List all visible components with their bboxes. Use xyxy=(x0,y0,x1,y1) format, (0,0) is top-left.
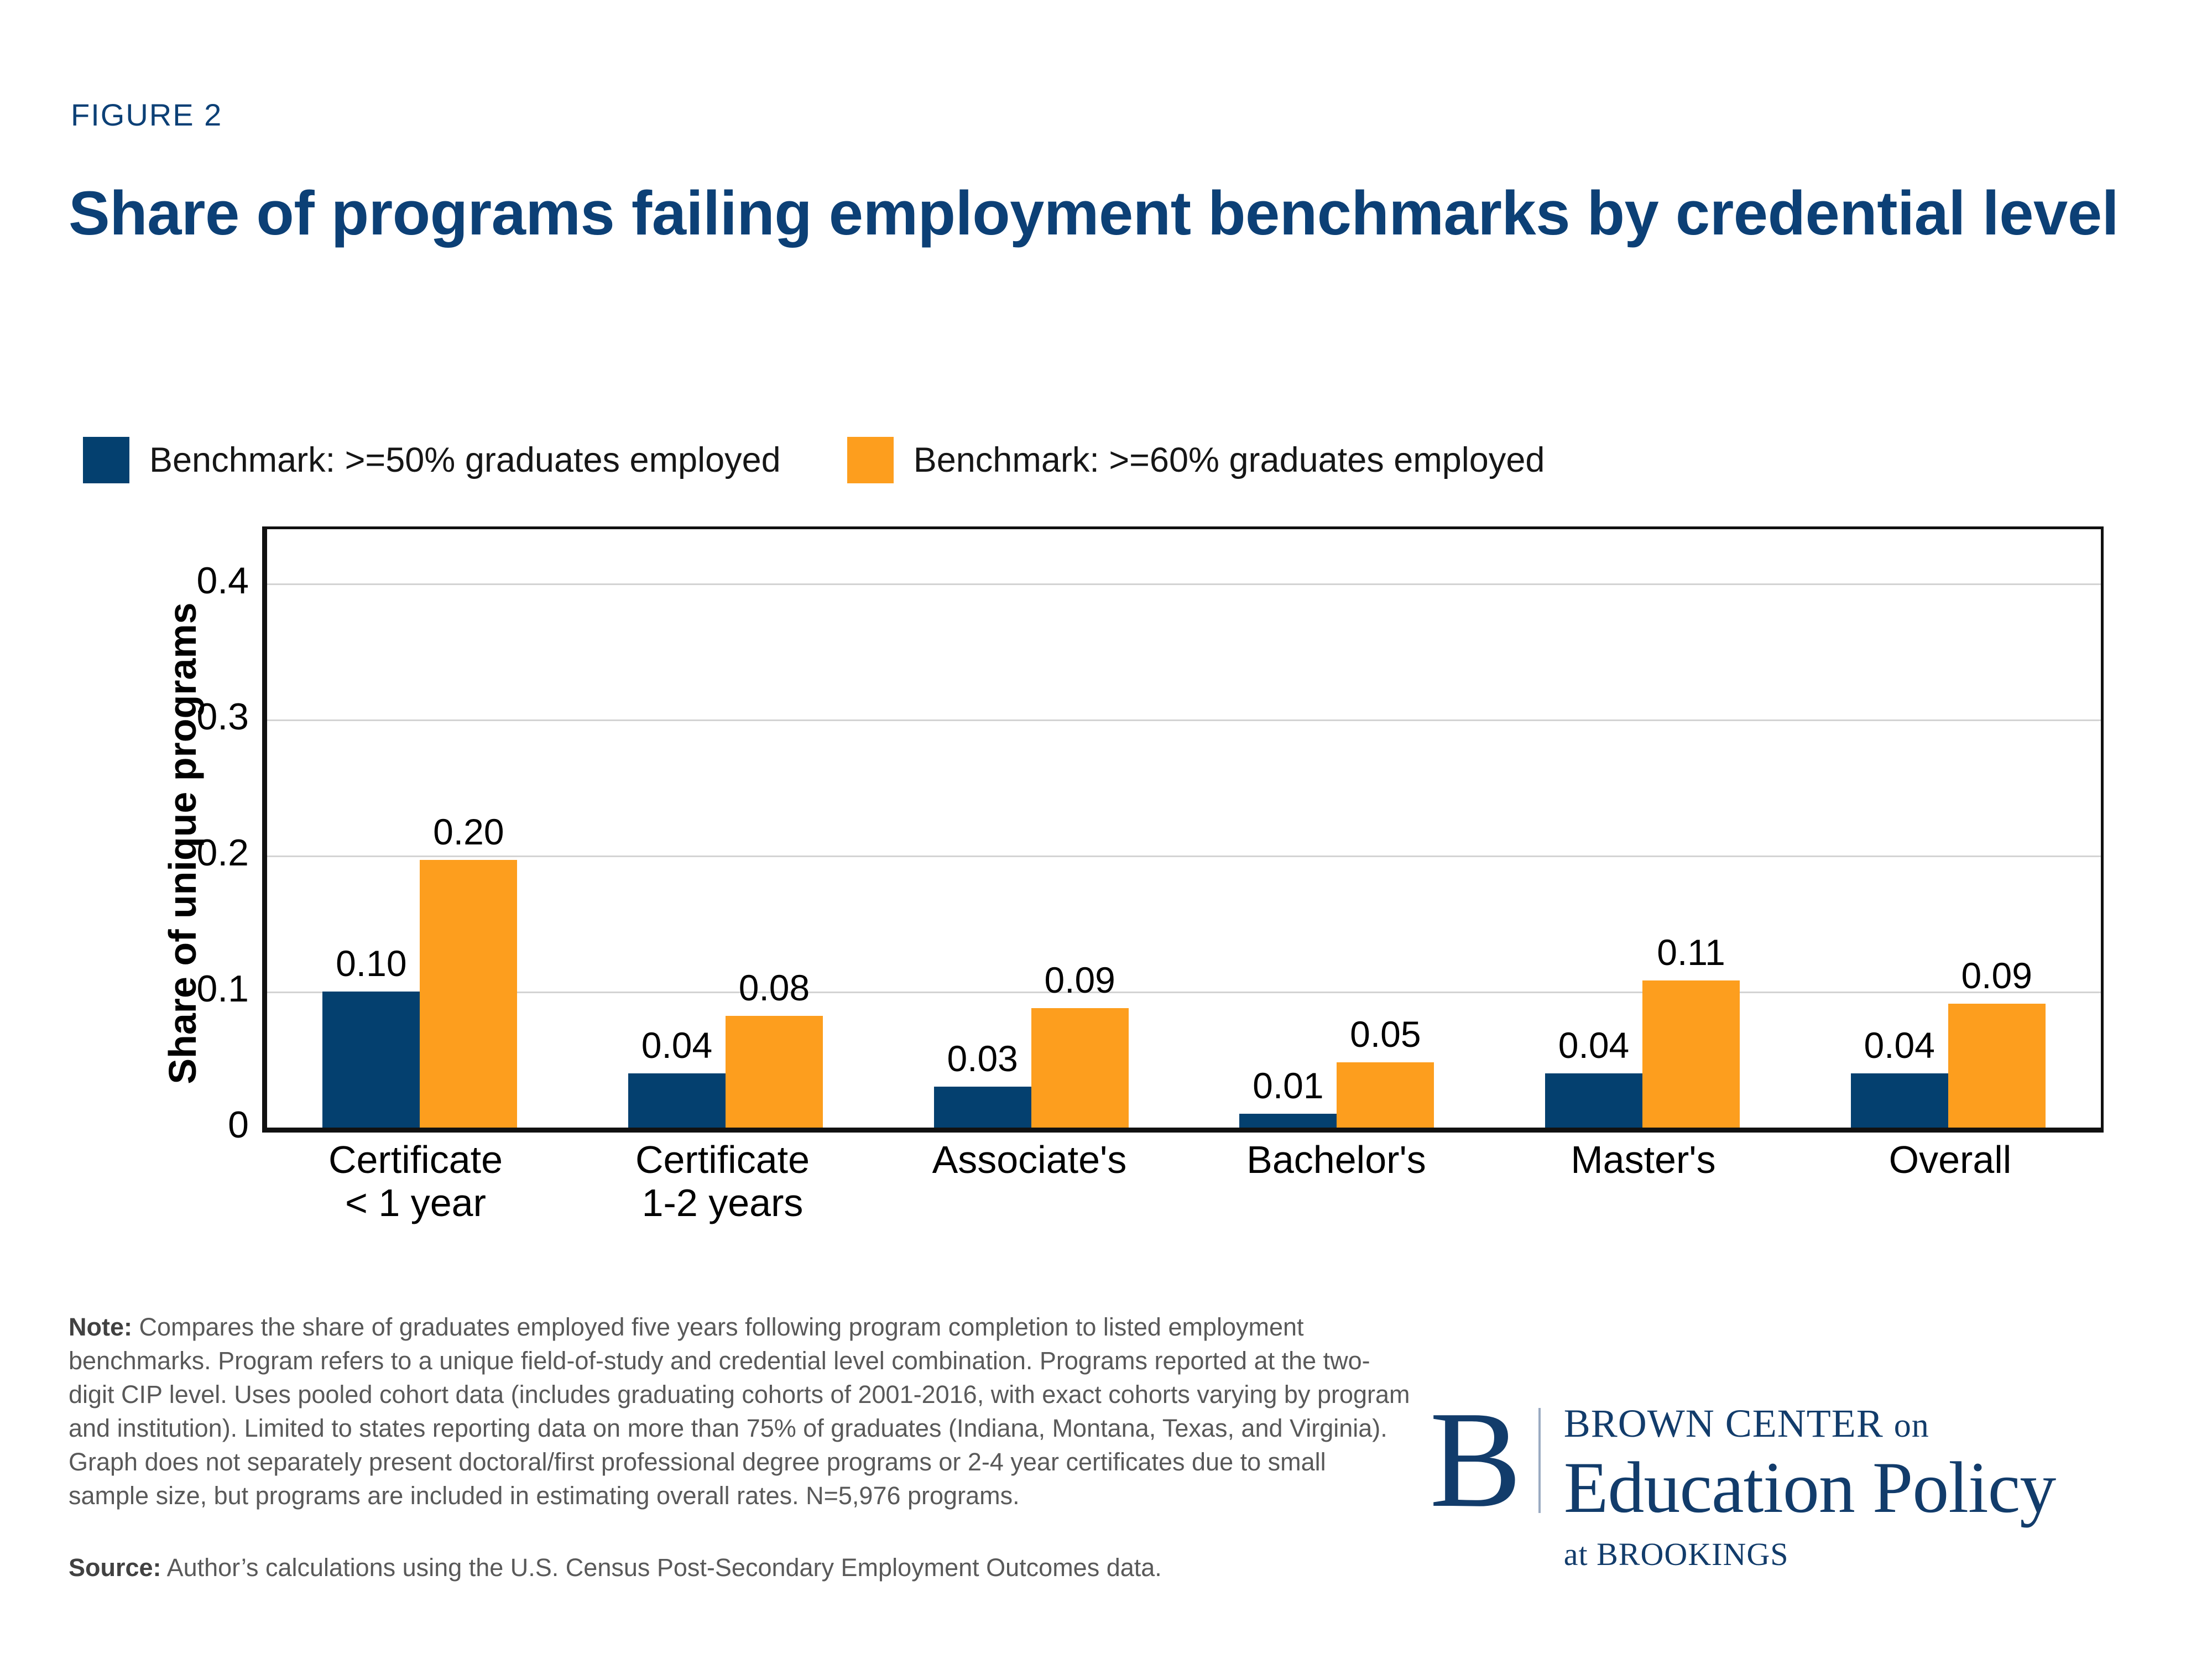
bar-value-label: 0.04 xyxy=(1558,1027,1629,1063)
y-tick-label: 0.2 xyxy=(196,831,249,874)
legend-label-benchmark-60: Benchmark: >=60% graduates employed xyxy=(914,443,1545,478)
bar-value-label: 0.10 xyxy=(336,945,406,982)
logo-wordmark: BROWN CENTER on Education Policy at BROO… xyxy=(1564,1394,2056,1571)
x-axis-label-line: Associate's xyxy=(876,1138,1183,1181)
legend-item-benchmark-60: Benchmark: >=60% graduates employed xyxy=(847,437,1545,483)
source-text: Source: Author’s calculations using the … xyxy=(69,1551,1451,1585)
bar-chart: Share of unique programs 00.10.20.30.4 0… xyxy=(0,514,2157,1255)
x-axis-label-line: Bachelor's xyxy=(1183,1138,1490,1181)
bar-value-label: 0.03 xyxy=(947,1040,1018,1077)
bar-group: 0.040.09 xyxy=(1795,529,2101,1128)
bar-benchmark-60[interactable]: 0.09 xyxy=(1031,1008,1129,1128)
x-axis-label-line: Overall xyxy=(1797,1138,2104,1181)
y-tick-label: 0.1 xyxy=(196,967,249,1010)
x-axis-label: Overall xyxy=(1797,1138,2104,1225)
bar-benchmark-60[interactable]: 0.09 xyxy=(1948,1004,2046,1128)
page-title: Share of programs failing employment ben… xyxy=(69,177,2142,250)
x-axis-label-line: < 1 year xyxy=(262,1181,569,1224)
bar-benchmark-50[interactable]: 0.04 xyxy=(1851,1073,1948,1128)
y-tick-label: 0.4 xyxy=(196,559,249,602)
logo-brown-center: BROWN CENTER xyxy=(1564,1401,1884,1446)
bar-group: 0.100.20 xyxy=(267,529,573,1128)
bar-group: 0.040.08 xyxy=(573,529,879,1128)
legend-swatch-blue xyxy=(83,437,129,483)
bar-benchmark-50[interactable]: 0.01 xyxy=(1239,1114,1337,1128)
y-tick-label: 0.3 xyxy=(196,695,249,738)
logo-on: on xyxy=(1894,1407,1929,1444)
y-tick-label: 0 xyxy=(228,1103,249,1146)
bar-benchmark-50[interactable]: 0.10 xyxy=(322,992,420,1128)
logo-line-brown-center: BROWN CENTER on xyxy=(1564,1404,2056,1443)
bar-benchmark-60[interactable]: 0.05 xyxy=(1337,1062,1434,1128)
x-axis-label-line: Certificate xyxy=(569,1138,876,1181)
bar-benchmark-50[interactable]: 0.04 xyxy=(1545,1073,1642,1128)
bar-group: 0.040.11 xyxy=(1490,529,1796,1128)
logo-monogram: B xyxy=(1430,1400,1538,1519)
legend-label-benchmark-50: Benchmark: >=50% graduates employed xyxy=(149,443,781,478)
y-axis-ticks: 00.10.20.30.4 xyxy=(138,514,249,1133)
legend-swatch-orange xyxy=(847,437,894,483)
brookings-logo: B BROWN CENTER on Education Policy at BR… xyxy=(1430,1394,2056,1571)
plot-area: 0.100.200.040.080.030.090.010.050.040.11… xyxy=(262,526,2104,1133)
x-axis-label: Associate's xyxy=(876,1138,1183,1225)
source-label: Source: xyxy=(69,1553,161,1582)
x-axis-label: Certificate1-2 years xyxy=(569,1138,876,1225)
note-text: Note: Compares the share of graduates em… xyxy=(69,1311,1412,1513)
bar-value-label: 0.11 xyxy=(1657,934,1725,971)
bar-benchmark-50[interactable]: 0.04 xyxy=(628,1073,726,1128)
figure-page: FIGURE 2 Share of programs failing emplo… xyxy=(0,0,2212,1659)
bar-group: 0.010.05 xyxy=(1184,529,1490,1128)
x-axis-label: Certificate< 1 year xyxy=(262,1138,569,1225)
bar-value-label: 0.04 xyxy=(1864,1027,1934,1063)
source-body: Author’s calculations using the U.S. Cen… xyxy=(161,1553,1162,1582)
legend-item-benchmark-50: Benchmark: >=50% graduates employed xyxy=(83,437,781,483)
bar-value-label: 0.20 xyxy=(433,813,504,850)
bar-group: 0.030.09 xyxy=(878,529,1184,1128)
bar-benchmark-50[interactable]: 0.03 xyxy=(934,1087,1031,1128)
figure-label: FIGURE 2 xyxy=(71,97,222,133)
x-axis-label: Bachelor's xyxy=(1183,1138,1490,1225)
x-axis-label: Master's xyxy=(1490,1138,1797,1225)
bar-value-label: 0.09 xyxy=(1044,962,1115,998)
x-axis-label-line: 1-2 years xyxy=(569,1181,876,1224)
x-axis-label-line: Certificate xyxy=(262,1138,569,1181)
x-axis-label-line: Master's xyxy=(1490,1138,1797,1181)
logo-divider xyxy=(1538,1408,1541,1513)
bar-value-label: 0.01 xyxy=(1253,1067,1323,1104)
x-axis-labels: Certificate< 1 yearCertificate1-2 yearsA… xyxy=(262,1138,2104,1225)
chart-legend: Benchmark: >=50% graduates employed Benc… xyxy=(83,437,1545,483)
logo-line-at-brookings: at BROOKINGS xyxy=(1564,1538,2056,1571)
bar-benchmark-60[interactable]: 0.20 xyxy=(420,860,517,1128)
bar-value-label: 0.09 xyxy=(1961,957,2032,994)
bar-value-label: 0.08 xyxy=(739,969,810,1006)
note-body: Compares the share of graduates employed… xyxy=(69,1313,1410,1510)
bar-groups: 0.100.200.040.080.030.090.010.050.040.11… xyxy=(267,529,2101,1128)
bar-value-label: 0.05 xyxy=(1350,1016,1421,1052)
logo-line-education-policy: Education Policy xyxy=(1564,1451,2056,1524)
bar-benchmark-60[interactable]: 0.08 xyxy=(726,1016,823,1128)
bar-benchmark-60[interactable]: 0.11 xyxy=(1642,980,1740,1128)
note-label: Note: xyxy=(69,1313,132,1341)
bar-value-label: 0.04 xyxy=(641,1027,712,1063)
